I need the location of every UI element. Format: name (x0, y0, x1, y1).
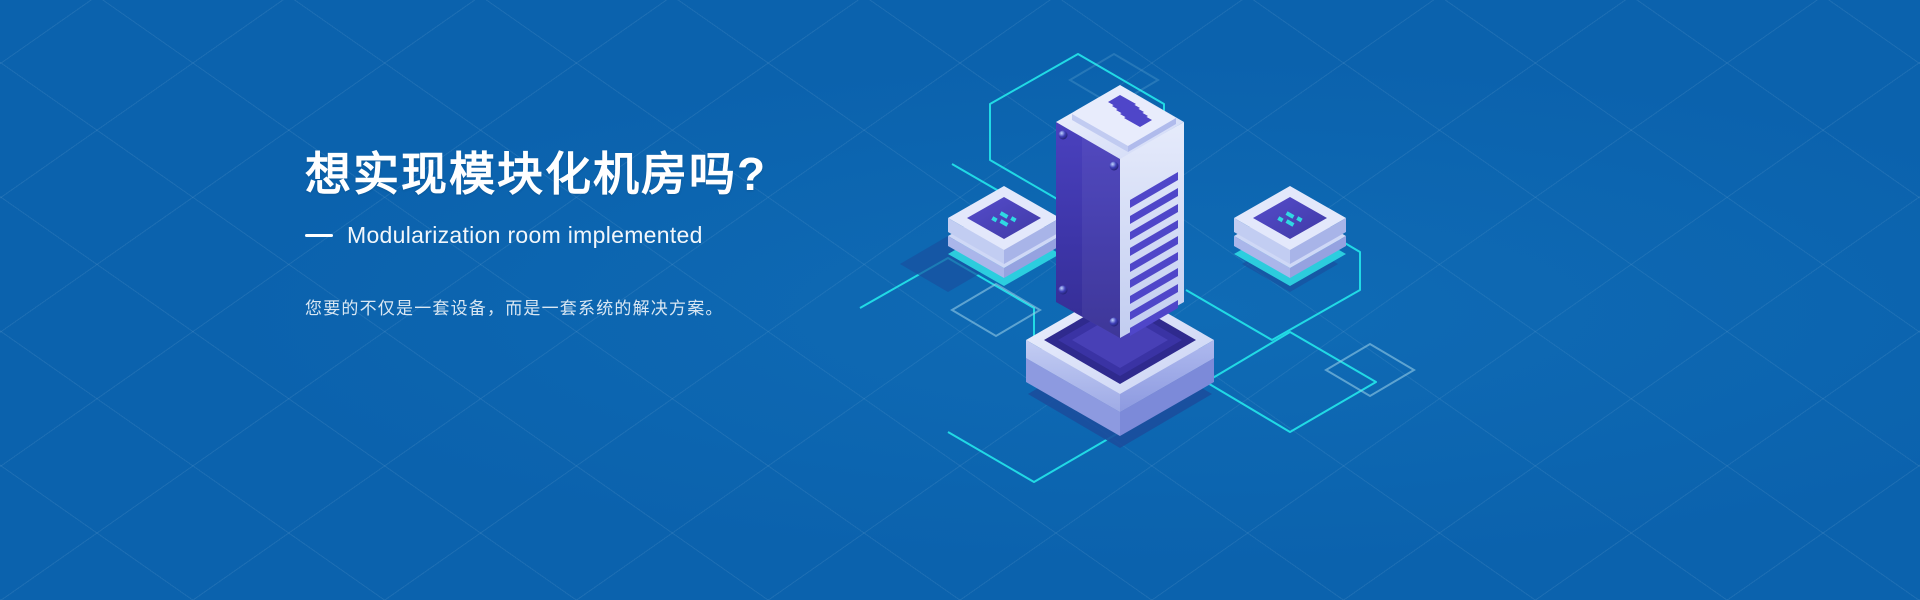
module-chip-right (1234, 186, 1346, 286)
page-subtitle: Modularization room implemented (347, 222, 703, 249)
hero-illustration (820, 40, 1440, 560)
hero-banner: 想实现模块化机房吗? Modularization room implement… (0, 0, 1920, 600)
divider-dash-icon (305, 234, 333, 237)
server-tower (1056, 85, 1184, 338)
